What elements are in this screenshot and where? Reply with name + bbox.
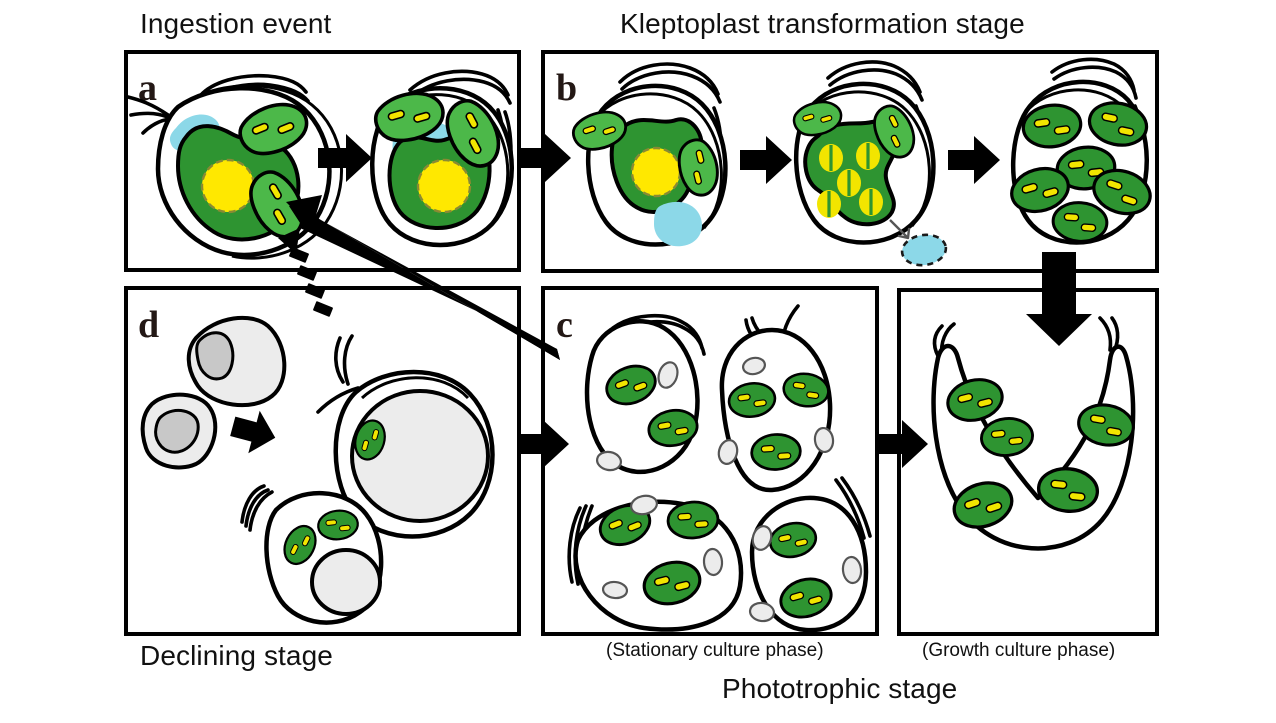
prey-nucleus	[202, 160, 254, 212]
panel-d-dead-cell-1	[189, 318, 285, 405]
figure-canvas: Ingestion event Kleptoplast transformati…	[0, 0, 1276, 723]
panel-d-dead-cell-2	[143, 395, 216, 468]
panel-label-d: d	[138, 304, 159, 346]
panel-label-b: b	[556, 67, 577, 109]
diagram-svg: .bx { fill:#fff; stroke:#000; stroke-wid…	[0, 0, 1276, 723]
panel-label-c: c	[556, 304, 573, 346]
